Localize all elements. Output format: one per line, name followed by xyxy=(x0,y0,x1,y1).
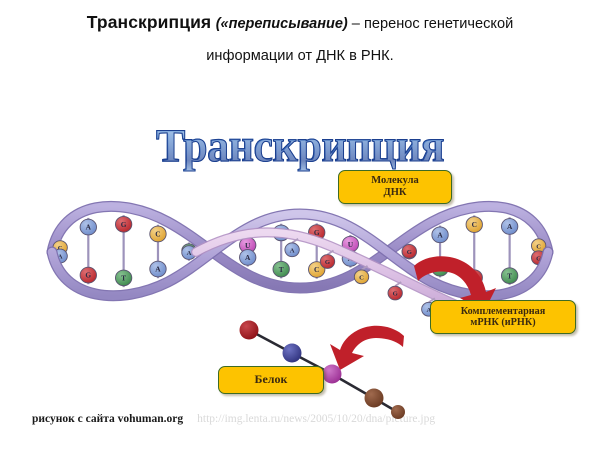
arrow-mrna-to-protein-icon xyxy=(330,326,404,370)
nucleotide-letter: A xyxy=(155,265,161,274)
label-dna-line2: ДНК xyxy=(383,187,406,199)
mrna-nucleotide-letter: G xyxy=(393,291,398,298)
mrna-nucleotide-letter: A xyxy=(290,247,295,254)
nucleotide-letter: C xyxy=(314,265,319,274)
protein-bead-5 xyxy=(391,405,405,419)
nucleotide-letter: G xyxy=(85,271,91,280)
label-dna-molecule[interactable]: Молекула ДНК xyxy=(338,170,452,204)
label-mrna-line1: Комплементарная xyxy=(461,306,546,317)
label-mrna-line2: мРНК (иРНК) xyxy=(470,317,535,328)
label-dna-line1: Молекула xyxy=(371,175,418,187)
nucleotide-letter: G xyxy=(121,220,127,229)
nucleotide-letter: U xyxy=(245,241,251,250)
protein-bead-2 xyxy=(283,344,302,363)
nucleotide-letter: C xyxy=(472,220,477,229)
label-complementary-mrna[interactable]: Комплементарная мРНК (иРНК) xyxy=(430,300,576,334)
nucleotide-letter: C xyxy=(536,243,541,250)
nucleotide-letter: A xyxy=(245,253,251,262)
nucleotide-letter: A xyxy=(507,222,513,231)
nucleotide-letter: A xyxy=(86,223,92,232)
protein-bead-4 xyxy=(365,389,384,408)
label-protein-line1: Белок xyxy=(255,373,288,386)
slide-canvas: Транскрипция («переписывание) – перенос … xyxy=(0,0,600,450)
nucleotide-letter: T xyxy=(507,271,512,280)
nucleotide-letter: U xyxy=(348,240,354,249)
nucleotide-letter: A xyxy=(187,250,192,257)
nucleotide-letter: C xyxy=(155,230,160,239)
nucleotide-letter: T xyxy=(279,265,284,274)
nucleotide-letter: A xyxy=(437,230,443,239)
label-protein[interactable]: Белок xyxy=(218,366,324,394)
nucleotide-letter: G xyxy=(407,249,412,256)
mrna-nucleotide-letter: C xyxy=(359,274,364,281)
protein-bead-1 xyxy=(240,321,259,340)
mrna-nucleotide-letter: G xyxy=(325,259,330,266)
protein-bead-3 xyxy=(323,365,342,384)
nucleotide-letter: T xyxy=(121,274,126,283)
